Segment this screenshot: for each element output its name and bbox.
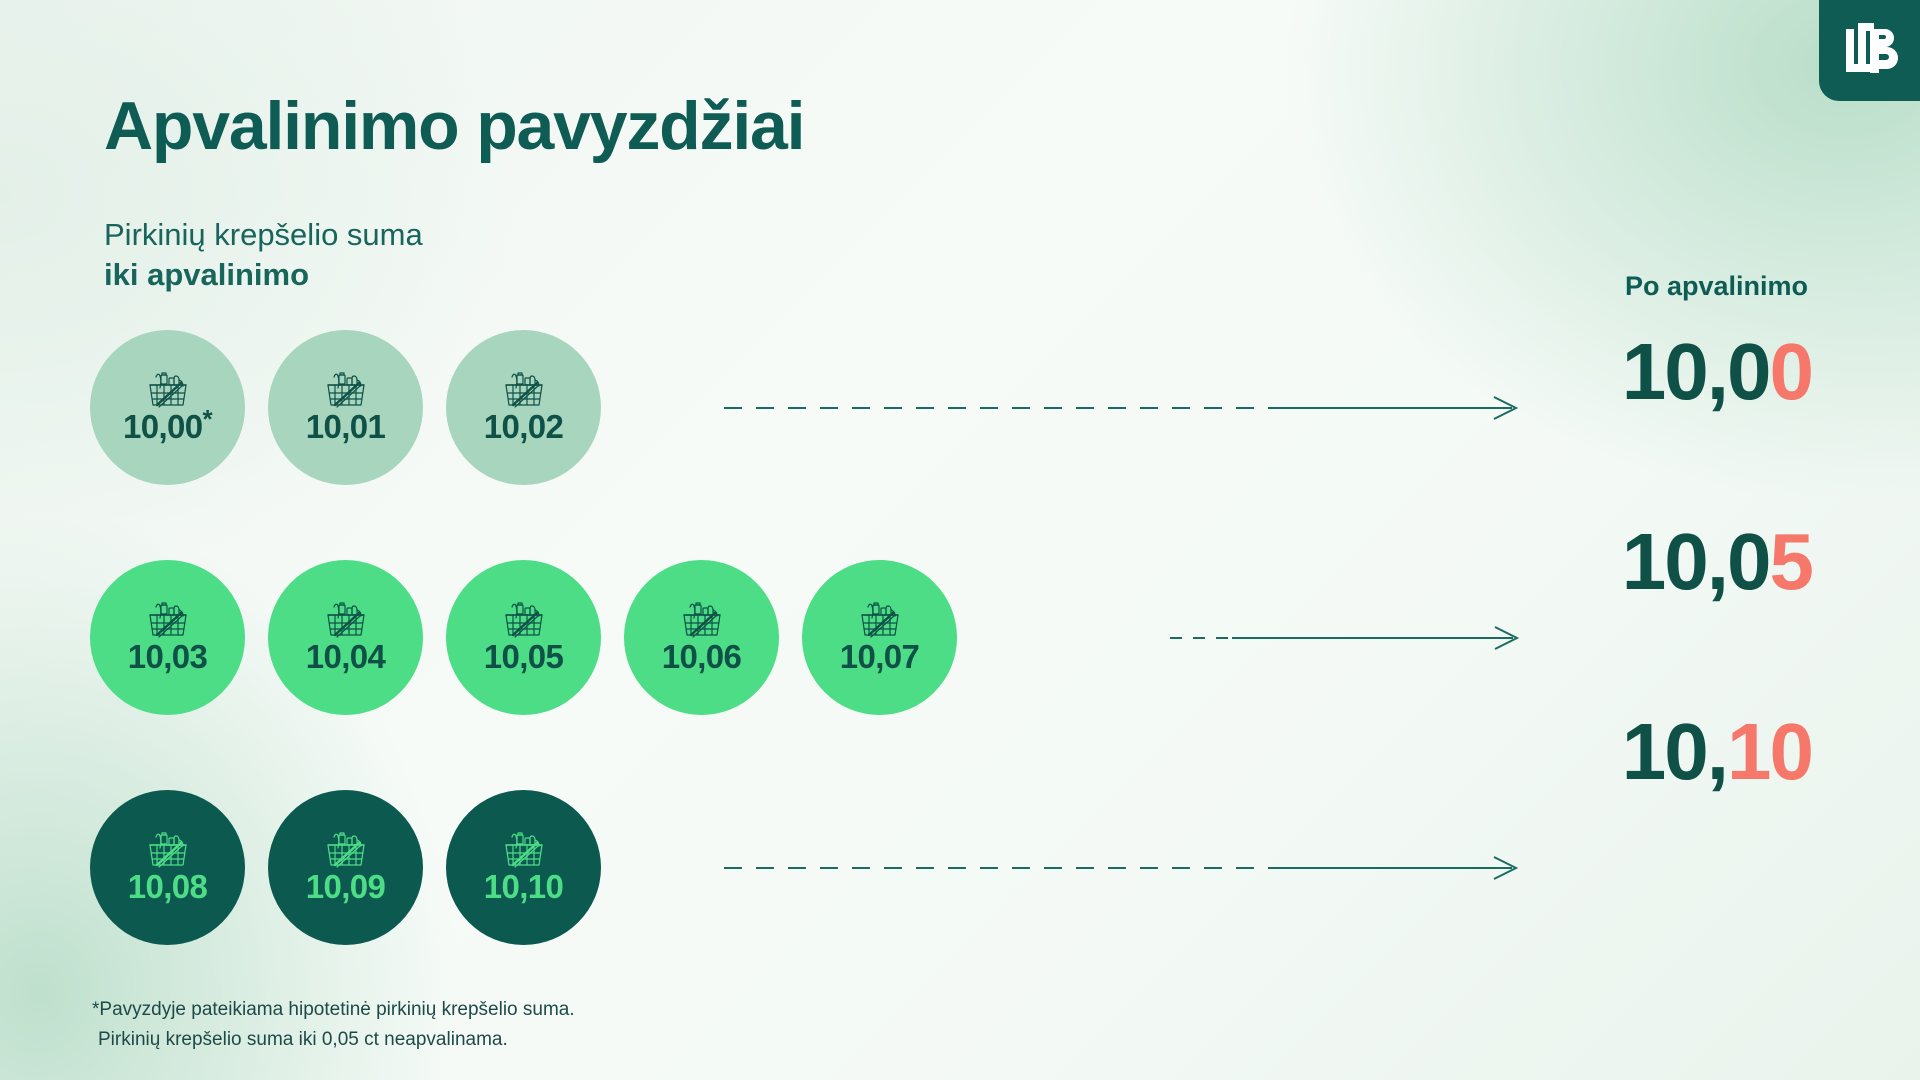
amount-bubble: 10,07 — [802, 560, 957, 715]
amount-bubble-group-1: 10,00* 10,01 — [90, 330, 601, 485]
subtitle-line-1: Pirkinių krepšelio suma — [104, 215, 423, 255]
shopping-basket-icon — [323, 602, 369, 642]
right-column-heading: Po apvalinimo — [1625, 271, 1808, 302]
amount-label: 10,02 — [484, 410, 564, 443]
amount-bubble: 10,00* — [90, 330, 245, 485]
rounded-digit-highlight: 10 — [1727, 707, 1812, 796]
rounded-digit-highlight: 5 — [1770, 517, 1813, 606]
amount-bubble: 10,10 — [446, 790, 601, 945]
shopping-basket-icon — [145, 602, 191, 642]
shopping-basket-icon — [323, 832, 369, 872]
page-title: Apvalinimo pavyzdžiai — [104, 92, 804, 160]
amount-label: 10,00* — [123, 410, 212, 443]
amount-label: 10,03 — [128, 640, 208, 673]
shopping-basket-icon — [501, 372, 547, 412]
shopping-basket-icon — [501, 832, 547, 872]
amount-bubble: 10,05 — [446, 560, 601, 715]
amount-label: 10,10 — [484, 870, 564, 903]
shopping-basket-icon — [857, 602, 903, 642]
amount-label: 10,08 — [128, 870, 208, 903]
bank-of-lithuania-logo — [1819, 0, 1920, 101]
amount-bubble: 10,03 — [90, 560, 245, 715]
subtitle-line-2: iki apvalinimo — [104, 255, 423, 295]
amount-bubble-group-2: 10,03 10,04 — [90, 560, 957, 715]
amount-bubble: 10,06 — [624, 560, 779, 715]
amount-label: 10,07 — [840, 640, 920, 673]
amount-bubble: 10,09 — [268, 790, 423, 945]
amount-label: 10,01 — [306, 410, 386, 443]
shopping-basket-icon — [145, 832, 191, 872]
rounding-arrow-row-3 — [724, 856, 1519, 880]
footnote: *Pavyzdyje pateikiama hipotetinė pirkini… — [92, 995, 575, 1054]
shopping-basket-icon — [145, 372, 191, 412]
amount-label: 10,05 — [484, 640, 564, 673]
amount-bubble: 10,01 — [268, 330, 423, 485]
footnote-line-1: *Pavyzdyje pateikiama hipotetinė pirkini… — [92, 995, 575, 1024]
rounded-result-row-2: 10,05 — [1622, 522, 1812, 602]
rounding-row-3: 10,08 10,09 — [0, 790, 1920, 990]
amount-bubble-group-3: 10,08 10,09 — [90, 790, 601, 945]
rounded-digit-highlight: 0 — [1770, 327, 1813, 416]
left-column-heading: Pirkinių krepšelio suma iki apvalinimo — [104, 215, 423, 294]
amount-bubble: 10,04 — [268, 560, 423, 715]
amount-label: 10,06 — [662, 640, 742, 673]
amount-label: 10,09 — [306, 870, 386, 903]
shopping-basket-icon — [679, 602, 725, 642]
amount-bubble: 10,08 — [90, 790, 245, 945]
rounded-result-row-1: 10,00 — [1622, 332, 1812, 412]
rounding-arrow-row-1 — [724, 396, 1519, 420]
amount-bubble: 10,02 — [446, 330, 601, 485]
shopping-basket-icon — [323, 372, 369, 412]
amount-label: 10,04 — [306, 640, 386, 673]
rounding-arrow-row-2 — [1170, 626, 1520, 650]
logo-monogram-icon — [1842, 21, 1898, 81]
shopping-basket-icon — [501, 602, 547, 642]
footnote-line-2: Pirkinių krepšelio suma iki 0,05 ct neap… — [92, 1025, 575, 1054]
rounded-result-row-3: 10,10 — [1622, 712, 1812, 792]
